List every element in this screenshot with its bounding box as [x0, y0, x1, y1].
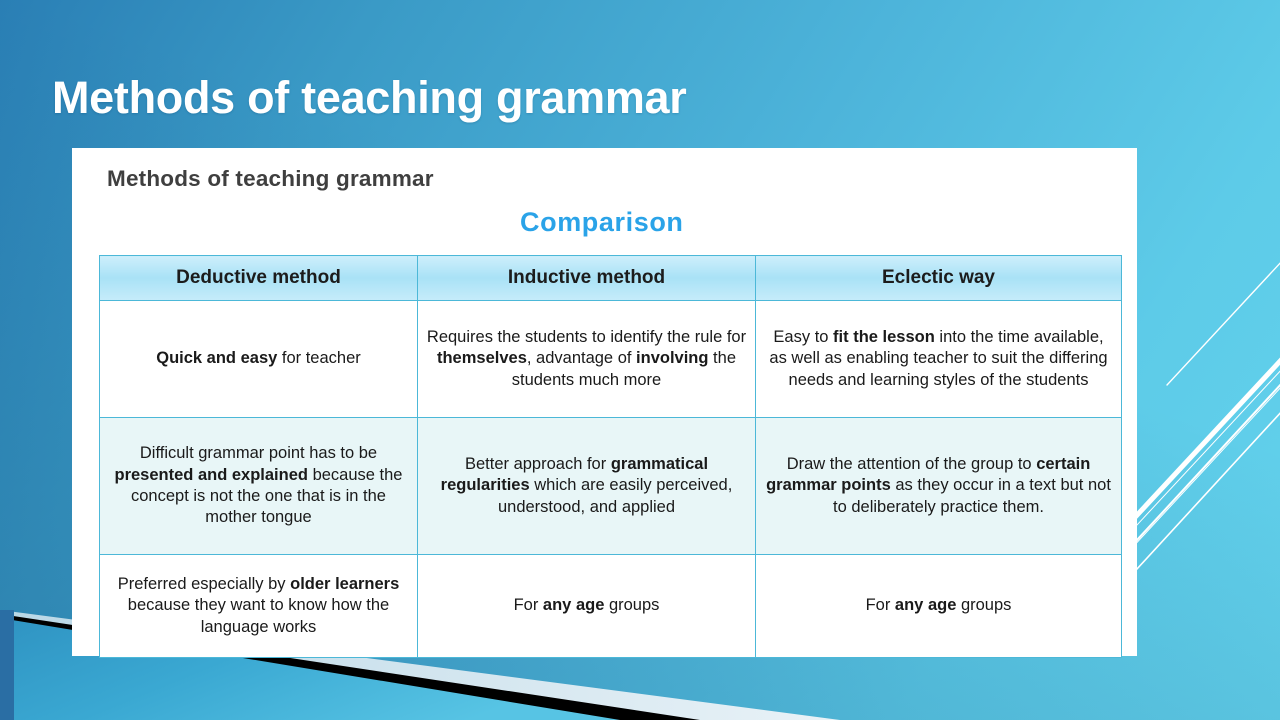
table-cell: Preferred especially by older learners b…: [100, 555, 418, 658]
table-row: Preferred especially by older learners b…: [100, 555, 1122, 658]
table-row: Quick and easy for teacher Requires the …: [100, 301, 1122, 418]
content-card: Methods of teaching grammar Comparison D…: [72, 148, 1137, 656]
table-cell: For any age groups: [756, 555, 1122, 658]
table-header-row: Deductive method Inductive method Eclect…: [100, 256, 1122, 301]
table-row: Difficult grammar point has to be presen…: [100, 418, 1122, 555]
table-cell: Requires the students to identify the ru…: [418, 301, 756, 418]
table-cell: For any age groups: [418, 555, 756, 658]
table-cell: Difficult grammar point has to be presen…: [100, 418, 418, 555]
table-cell: Easy to fit the lesson into the time ava…: [756, 301, 1122, 418]
card-subheading: Comparison: [520, 207, 684, 238]
column-header-deductive: Deductive method: [100, 256, 418, 301]
column-header-inductive: Inductive method: [418, 256, 756, 301]
slide: Methods of teaching grammar Methods of t…: [0, 0, 1280, 720]
table-body: Quick and easy for teacher Requires the …: [100, 301, 1122, 658]
table-cell: Quick and easy for teacher: [100, 301, 418, 418]
page-title: Methods of teaching grammar: [52, 72, 687, 124]
column-header-eclectic: Eclectic way: [756, 256, 1122, 301]
table-cell: Draw the attention of the group to certa…: [756, 418, 1122, 555]
comparison-table: Deductive method Inductive method Eclect…: [99, 255, 1122, 658]
table-cell: Better approach for grammatical regulari…: [418, 418, 756, 555]
card-heading: Methods of teaching grammar: [107, 166, 434, 192]
